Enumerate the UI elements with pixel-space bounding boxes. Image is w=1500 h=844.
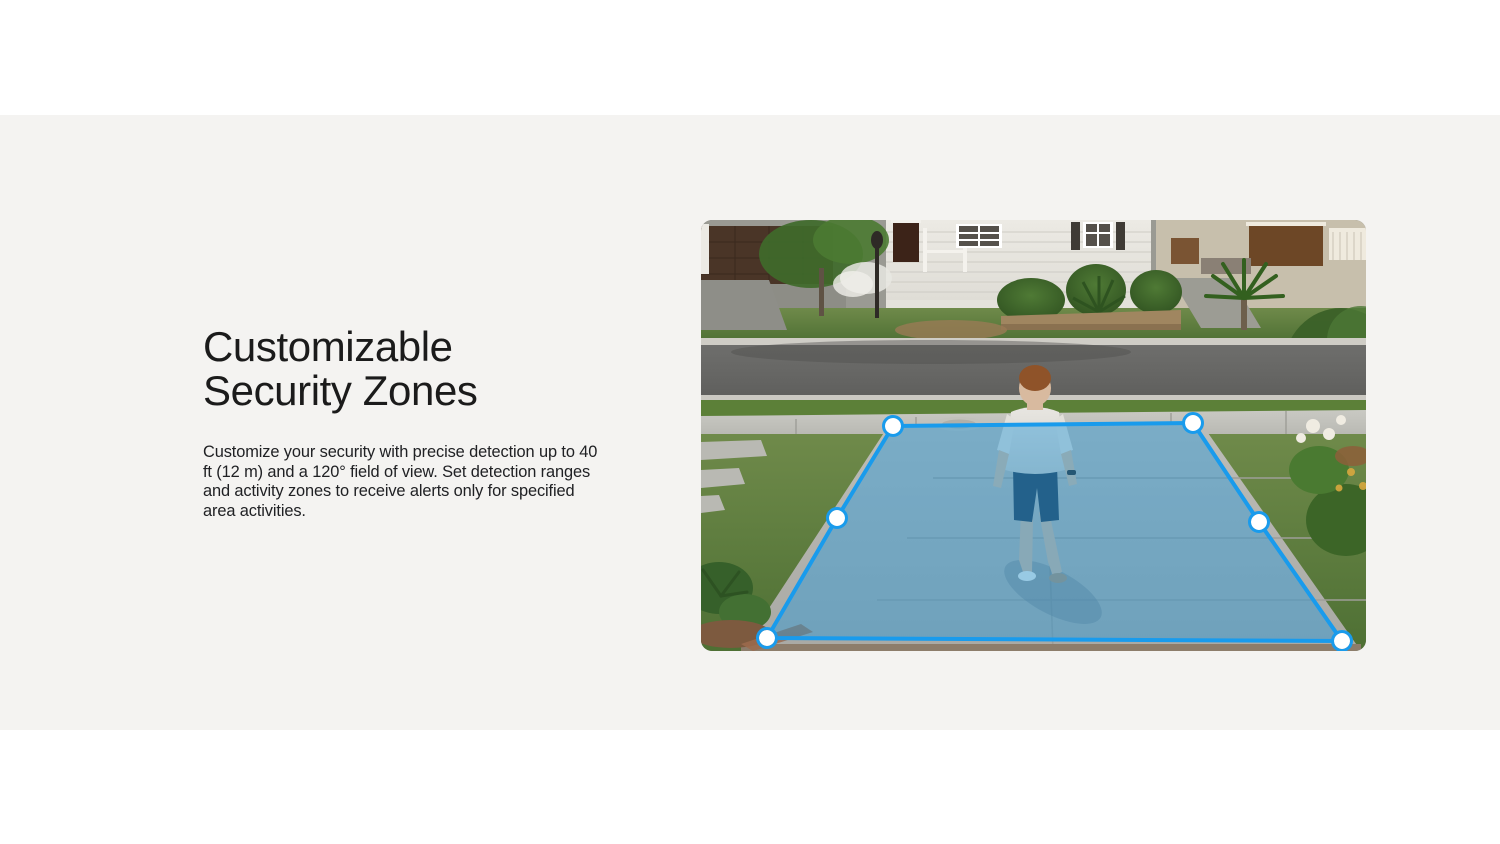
handle-bottom-right[interactable] — [1333, 632, 1352, 651]
feature-text-column: Customizable Security Zones Customize yo… — [203, 325, 623, 521]
handle-top-right[interactable] — [1184, 414, 1203, 433]
page-root: Customizable Security Zones Customize yo… — [0, 0, 1500, 844]
handle-top-left[interactable] — [884, 417, 903, 436]
handle-mid-right[interactable] — [1250, 513, 1269, 532]
handle-bottom-left[interactable] — [758, 629, 777, 648]
detection-zone-overlay[interactable] — [701, 220, 1366, 651]
handle-mid-left[interactable] — [828, 509, 847, 528]
page-title: Customizable Security Zones — [203, 325, 623, 413]
camera-preview-card — [701, 220, 1366, 651]
feature-description: Customize your security with precise det… — [203, 413, 603, 521]
